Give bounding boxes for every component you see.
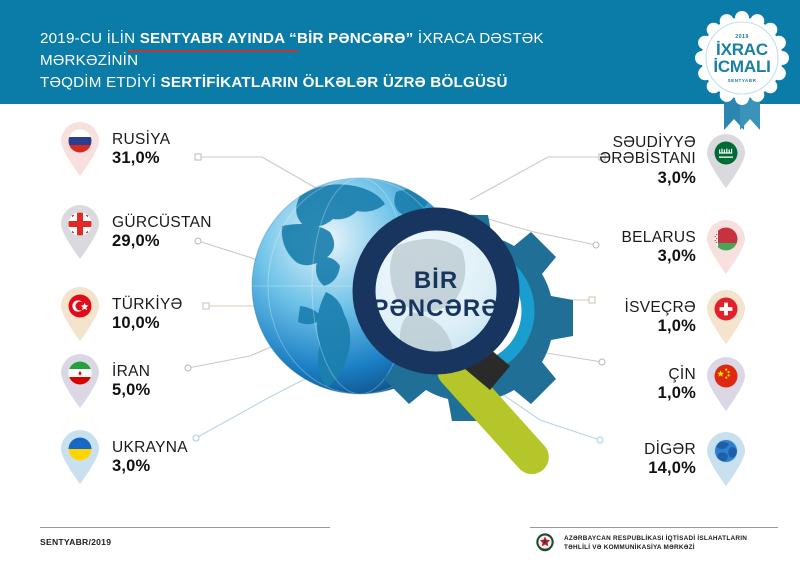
country-value: 3,0%	[112, 457, 188, 475]
flag-turkey-icon	[58, 286, 102, 342]
footer-date: SENTYABR/2019	[40, 537, 111, 547]
footer-org-line1: AZƏRBAYCAN RESPUBLİKASI İQTİSADİ İSLAHAT…	[564, 534, 747, 543]
list-item-seudiyye-erebistani[interactable]: SƏUDİYYƏ ƏRƏBİSTANI 3,0%	[599, 128, 748, 194]
list-item-belarus[interactable]: BELARUS 3,0%	[622, 218, 748, 276]
flag-saudi-arabia-icon	[704, 133, 748, 189]
flag-russia-icon	[58, 121, 102, 177]
flag-belarus-icon	[704, 219, 748, 275]
flag-georgia-icon	[58, 204, 102, 260]
title-line1-pre: 2019-CU İLİN	[40, 30, 140, 47]
country-value: 10,0%	[112, 314, 183, 332]
flag-switzerland-icon	[704, 289, 748, 345]
flag-china-icon	[704, 356, 748, 412]
title-line2-pre: TƏQDİM ETDİYİ	[40, 74, 161, 91]
country-name: İSVEÇRƏ	[625, 299, 696, 316]
country-value: 5,0%	[112, 381, 150, 399]
footer-organization: AZƏRBAYCAN RESPUBLİKASI İQTİSADİ İSLAHAT…	[534, 532, 747, 554]
logo-line2: PƏNCƏRƏ	[372, 295, 499, 322]
country-value: 3,0%	[622, 247, 696, 265]
footer-divider-right	[530, 527, 778, 528]
list-item-iran[interactable]: İRAN 5,0%	[58, 352, 150, 410]
country-name: RUSİYA	[112, 131, 170, 148]
country-name-line2: ƏRƏBİSTANI	[599, 151, 696, 167]
country-name: TÜRKİYƏ	[112, 296, 183, 313]
country-name-line1: SƏUDİYYƏ	[599, 135, 696, 151]
title-line1-bold: SENTYABR AYINDA “BİR PƏNCƏRƏ”	[140, 30, 414, 47]
list-item-gurcustan[interactable]: GÜRCÜSTAN 29,0%	[58, 203, 212, 261]
country-value: 1,0%	[658, 384, 696, 402]
list-item-cin[interactable]: ÇİN 1,0%	[658, 355, 748, 413]
country-name: DİGƏR	[644, 441, 696, 458]
title-underline	[128, 50, 298, 52]
country-value: 31,0%	[112, 149, 170, 167]
azerbaijan-emblem-icon	[534, 532, 556, 554]
list-item-isvecre[interactable]: İSVEÇRƏ 1,0%	[625, 288, 748, 346]
title-line2-bold: SERTİFİKATLARIN ÖLKƏLƏR ÜZRƏ BÖLGÜSÜ	[161, 74, 508, 91]
list-item-rusiya[interactable]: RUSİYA 31,0%	[58, 120, 170, 178]
country-name: BELARUS	[622, 229, 696, 246]
page-title: 2019-CU İLİN SENTYABR AYINDA “BİR PƏNCƏR…	[40, 28, 640, 94]
flag-iran-icon	[58, 353, 102, 409]
footer-divider-left	[40, 527, 330, 528]
country-name: UKRAYNA	[112, 439, 188, 456]
country-name: ÇİN	[658, 366, 696, 383]
country-value: 1,0%	[625, 317, 696, 335]
globe-icon	[704, 431, 748, 487]
country-value: 14,0%	[644, 459, 696, 477]
country-value: 3,0%	[599, 169, 696, 187]
country-value: 29,0%	[112, 232, 212, 250]
list-item-turkiye[interactable]: TÜRKİYƏ 10,0%	[58, 285, 183, 343]
infographic-page: 2019-CU İLİN SENTYABR AYINDA “BİR PƏNCƏR…	[0, 0, 800, 566]
country-name: İRAN	[112, 363, 150, 380]
header-banner: 2019-CU İLİN SENTYABR AYINDA “BİR PƏNCƏR…	[0, 0, 800, 104]
flag-ukraine-icon	[58, 429, 102, 485]
logo-line1: BİR	[414, 267, 458, 294]
country-name: GÜRCÜSTAN	[112, 214, 212, 231]
list-item-diger[interactable]: DİGƏR 14,0%	[644, 430, 748, 488]
footer-org-line2: TƏHLİLİ VƏ KOMMUNİKASİYA MƏRKƏZİ	[564, 543, 747, 552]
list-item-ukrayna[interactable]: UKRAYNA 3,0%	[58, 428, 188, 486]
